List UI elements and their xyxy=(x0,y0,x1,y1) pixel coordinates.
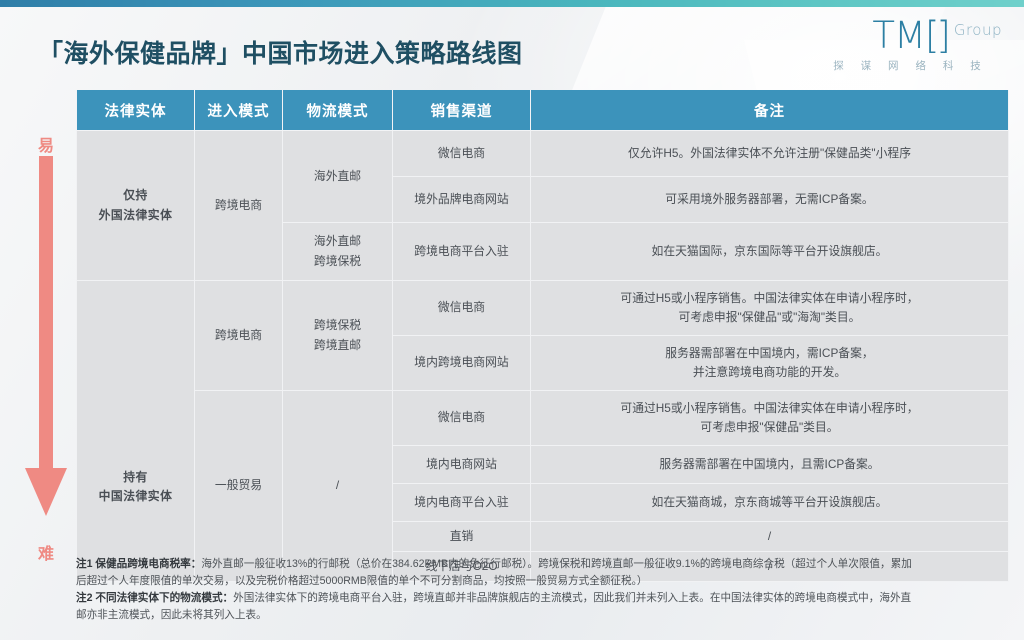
cell-remark-1: 仅允许H5。外国法律实体不允许注册"保健品类"小程序 xyxy=(531,131,1009,177)
cell-remark-8: 如在天猫商城，京东商城等平台开设旗舰店。 xyxy=(531,484,1009,522)
cell-logistics-bonded-direct: 跨境保税 跨境直邮 xyxy=(283,281,393,391)
legal-entity-china-line2: 中国法律实体 xyxy=(83,487,188,506)
remark-4-line1: 可通过H5或小程序销售。中国法律实体在申请小程序时， xyxy=(537,289,1002,308)
footnote-line-4: 邮亦非主流模式，因此未将其列入上表。 xyxy=(76,607,1012,624)
cell-channel-domestic-site: 境内电商网站 xyxy=(393,446,531,484)
footnote-2-text: 后超过个人年度限值的单次交易，以及完税价格超过5000RMB限值的单个不可分割商… xyxy=(76,575,648,587)
footnotes: 注1 保健品跨境电商税率：海外直邮一般征收13%的行邮税（总价在384.62RM… xyxy=(76,556,1012,625)
cell-channel-cross-border-platform: 跨境电商平台入驻 xyxy=(393,223,531,281)
cell-remark-5: 服务器需部署在中国境内，需ICP备案， 并注意跨境电商功能的开发。 xyxy=(531,336,1009,391)
cell-logistics-overseas-direct: 海外直邮 xyxy=(283,131,393,223)
cell-channel-domestic-cross-border-site: 境内跨境电商网站 xyxy=(393,336,531,391)
cell-legal-entity-china: 持有 中国法律实体 xyxy=(77,281,195,582)
gauge-label-easy: 易 xyxy=(16,132,76,156)
col-header-logistics-mode: 物流模式 xyxy=(283,90,393,131)
remark-4-line2: 可考虑申报"保健品"或"海淘"类目。 xyxy=(537,308,1002,327)
logistics-line1: 跨境保税 xyxy=(289,316,386,335)
gauge-label-hard: 难 xyxy=(16,540,76,564)
strategy-matrix: 法律实体 进入模式 物流模式 销售渠道 备注 仅持 外国法律实体 跨境电商 海外… xyxy=(76,90,1008,582)
logistics-line2: 跨境直邮 xyxy=(289,336,386,355)
cell-channel-overseas-brand-site: 境外品牌电商网站 xyxy=(393,177,531,223)
cell-remark-6: 可通过H5或小程序销售。中国法律实体在申请小程序时， 可考虑申报"保健品"类目。 xyxy=(531,391,1009,446)
col-header-sales-channel: 销售渠道 xyxy=(393,90,531,131)
cell-legal-entity-foreign: 仅持 外国法律实体 xyxy=(77,131,195,281)
page-title: 「海外保健品牌」中国市场进入策略路线图 xyxy=(38,34,523,70)
cell-channel-domestic-platform: 境内电商平台入驻 xyxy=(393,484,531,522)
footnote-3-tag: 注2 不同法律实体下的物流模式： xyxy=(76,592,233,604)
difficulty-gauge: 易 难 xyxy=(16,132,76,564)
cell-entry-mode-general-trade: 一般贸易 xyxy=(195,391,283,582)
cell-remark-9: / xyxy=(531,522,1009,552)
logo-mark: TM[] Group xyxy=(812,18,1002,53)
table-row: 一般贸易 / 微信电商 可通过H5或小程序销售。中国法律实体在申请小程序时， 可… xyxy=(77,391,1009,446)
logistics-line2: 跨境保税 xyxy=(289,252,386,271)
cell-entry-mode-cross-border-1: 跨境电商 xyxy=(195,131,283,281)
cell-channel-wechat-3: 微信电商 xyxy=(393,391,531,446)
matrix-table: 法律实体 进入模式 物流模式 销售渠道 备注 仅持 外国法律实体 跨境电商 海外… xyxy=(76,90,1009,582)
cell-channel-wechat-2: 微信电商 xyxy=(393,281,531,336)
remark-5-line1: 服务器需部署在中国境内，需ICP备案， xyxy=(537,344,1002,363)
col-header-remark: 备注 xyxy=(531,90,1009,131)
slide-canvas: 「海外保健品牌」中国市场进入策略路线图 TM[] Group 探 谋 网 络 科… xyxy=(0,0,1024,640)
legal-entity-foreign-line2: 外国法律实体 xyxy=(83,206,188,225)
cell-channel-wechat-1: 微信电商 xyxy=(393,131,531,177)
legal-entity-foreign-line1: 仅持 xyxy=(83,186,188,205)
logo-group-text: Group xyxy=(954,21,1002,39)
cell-logistics-overseas-direct-bonded: 海外直邮 跨境保税 xyxy=(283,223,393,281)
cell-remark-4: 可通过H5或小程序销售。中国法律实体在申请小程序时， 可考虑申报"保健品"或"海… xyxy=(531,281,1009,336)
footnote-4-text: 邮亦非主流模式，因此未将其列入上表。 xyxy=(76,609,267,621)
down-arrow-icon xyxy=(24,156,68,536)
logo-subtitle: 探 谋 网 络 科 技 xyxy=(812,58,1002,73)
footnote-line-2: 后超过个人年度限值的单次交易，以及完税价格超过5000RMB限值的单个不可分割商… xyxy=(76,573,1012,590)
legal-entity-china-line1: 持有 xyxy=(83,468,188,487)
cell-remark-3: 如在天猫国际，京东国际等平台开设旗舰店。 xyxy=(531,223,1009,281)
footnote-1-text: 海外直邮一般征收13%的行邮税（总价在384.62RMB内的免征行邮税）。跨境保… xyxy=(201,558,911,570)
footnote-1-tag: 注1 保健品跨境电商税率： xyxy=(76,558,201,570)
remark-6-line1: 可通过H5或小程序销售。中国法律实体在申请小程序时， xyxy=(537,399,1002,418)
footnote-line-3: 注2 不同法律实体下的物流模式：外国法律实体下的跨境电商平台入驻，跨境直邮并非品… xyxy=(76,590,1012,607)
tmo-group-logo: TM[] Group 探 谋 网 络 科 技 xyxy=(812,18,1002,73)
cell-remark-2: 可采用境外服务器部署，无需ICP备案。 xyxy=(531,177,1009,223)
remark-6-line2: 可考虑申报"保健品"类目。 xyxy=(537,418,1002,437)
cell-channel-direct-sales: 直销 xyxy=(393,522,531,552)
col-header-entry-mode: 进入模式 xyxy=(195,90,283,131)
footnote-line-1: 注1 保健品跨境电商税率：海外直邮一般征收13%的行邮税（总价在384.62RM… xyxy=(76,556,1012,573)
cell-logistics-none: / xyxy=(283,391,393,582)
cell-remark-7: 服务器需部署在中国境内，且需ICP备案。 xyxy=(531,446,1009,484)
table-header-row: 法律实体 进入模式 物流模式 销售渠道 备注 xyxy=(77,90,1009,131)
cell-entry-mode-cross-border-2: 跨境电商 xyxy=(195,281,283,391)
remark-5-line2: 并注意跨境电商功能的开发。 xyxy=(537,363,1002,382)
logistics-line1: 海外直邮 xyxy=(289,232,386,251)
table-row: 持有 中国法律实体 跨境电商 跨境保税 跨境直邮 微信电商 可通过H5或小程序销… xyxy=(77,281,1009,336)
footnote-3-text: 外国法律实体下的跨境电商平台入驻，跨境直邮并非品牌旗舰店的主流模式，因此我们并未… xyxy=(233,592,911,604)
col-header-legal-entity: 法律实体 xyxy=(77,90,195,131)
table-row: 仅持 外国法律实体 跨境电商 海外直邮 微信电商 仅允许H5。外国法律实体不允许… xyxy=(77,131,1009,177)
logo-wordmark: TM[] xyxy=(872,18,949,53)
top-accent-bar xyxy=(0,0,1024,7)
